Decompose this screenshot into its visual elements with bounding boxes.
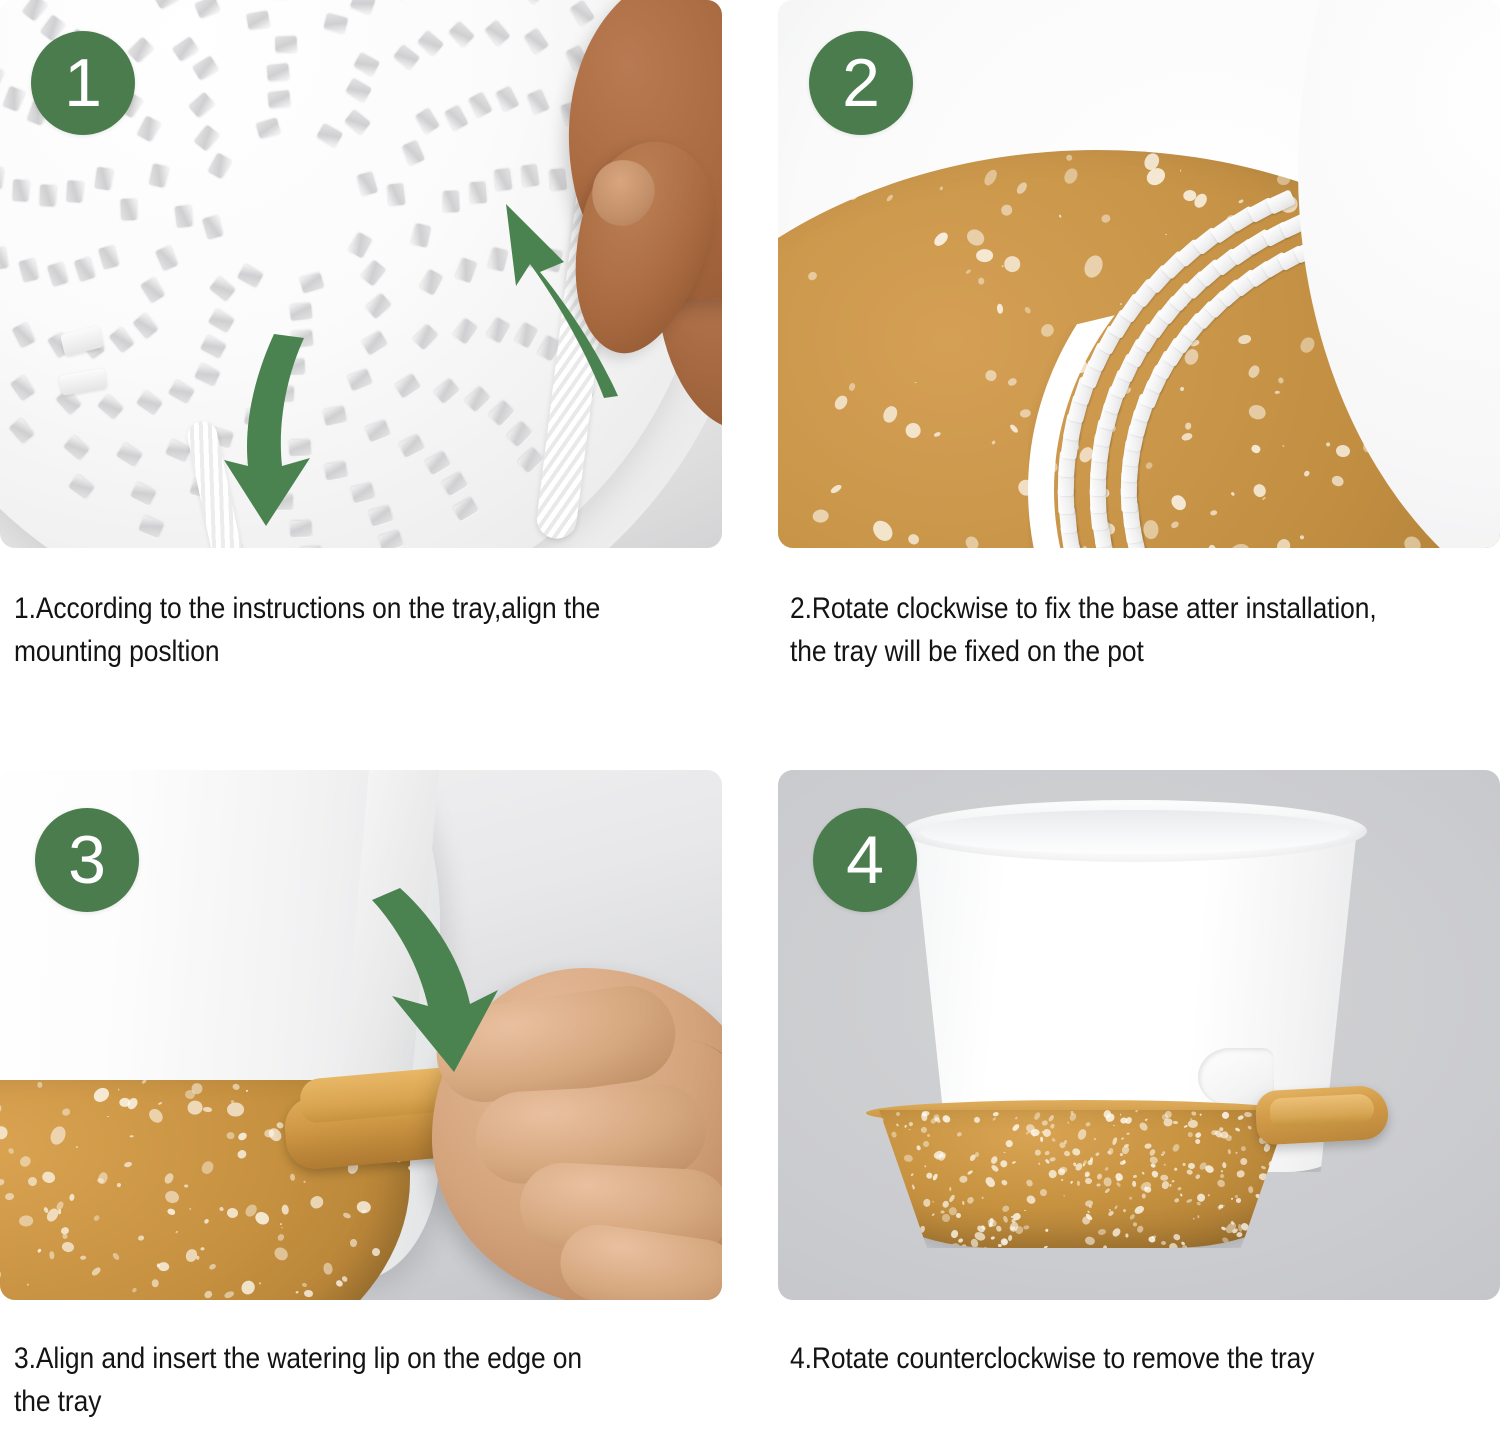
caption-step-1: 1.According to the instructions on the t… bbox=[14, 588, 727, 673]
steps-row-2: 3 4 3.Align and insert the watering lip … bbox=[0, 770, 1500, 1441]
panel-step-3: 3 bbox=[0, 770, 722, 1300]
step-2-badge: 2 bbox=[809, 31, 913, 135]
steps-row-1: 1 2 1.According to the instructions on bbox=[0, 0, 1500, 700]
pot-rim-inner bbox=[920, 810, 1350, 854]
caption-step-3: 3.Align and insert the watering lip on t… bbox=[14, 1338, 727, 1423]
instruction-sheet: 1 2 1.According to the instructions on bbox=[0, 0, 1500, 1441]
curved-arrow-down-icon bbox=[366, 886, 536, 1076]
caption-step-2: 2.Rotate clockwise to fix the base atter… bbox=[790, 588, 1500, 673]
curved-arrow-up-left-icon bbox=[500, 170, 650, 400]
step-1-number: 1 bbox=[64, 49, 102, 117]
step-2-number: 2 bbox=[842, 49, 880, 117]
step-3-badge: 3 bbox=[35, 808, 139, 912]
panel-step-1: 1 bbox=[0, 0, 722, 548]
step-1-badge: 1 bbox=[31, 31, 135, 135]
step-3-number: 3 bbox=[68, 826, 106, 894]
saucer-speckled-base bbox=[866, 1110, 1302, 1248]
step-4-number: 4 bbox=[846, 826, 884, 894]
curved-arrow-down-left-icon bbox=[218, 330, 418, 530]
panel-step-4: 4 bbox=[778, 770, 1500, 1300]
panel-step-2: 2 bbox=[778, 0, 1500, 548]
watering-spout-channel bbox=[1269, 1093, 1374, 1126]
step-4-badge: 4 bbox=[813, 808, 917, 912]
caption-step-4: 4.Rotate counterclockwise to remove the … bbox=[790, 1338, 1500, 1381]
